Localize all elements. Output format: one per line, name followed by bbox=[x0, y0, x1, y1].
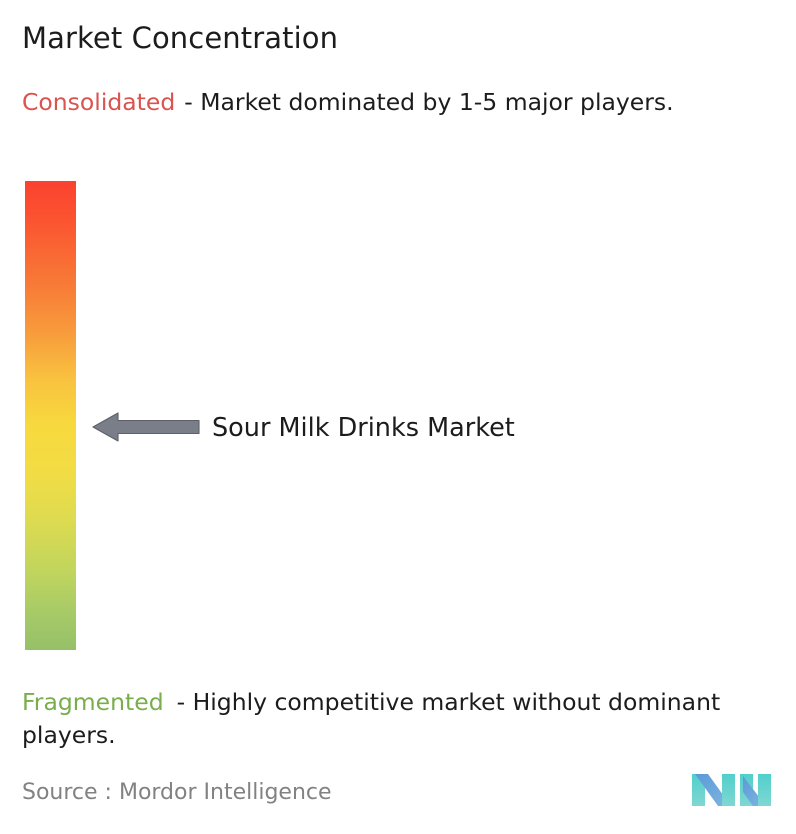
mordor-intelligence-logo-icon bbox=[692, 770, 772, 810]
pointer-label: Sour Milk Drinks Market bbox=[212, 413, 515, 443]
legend-consolidated-keyword: Consolidated bbox=[22, 88, 175, 116]
legend-fragmented: Fragmented- Highly competitive market wi… bbox=[22, 686, 786, 752]
legend-consolidated-description: - Market dominated by 1-5 major players. bbox=[184, 88, 673, 116]
legend-consolidated: Consolidated- Market dominated by 1-5 ma… bbox=[22, 86, 774, 119]
concentration-gradient-bar bbox=[25, 181, 76, 650]
pointer-arrow-icon bbox=[92, 410, 200, 444]
market-concentration-chart: Market Concentration Consolidated- Marke… bbox=[0, 0, 796, 834]
legend-fragmented-keyword: Fragmented bbox=[22, 688, 164, 716]
page-title: Market Concentration bbox=[22, 20, 338, 56]
source-attribution: Source : Mordor Intelligence bbox=[22, 779, 332, 807]
